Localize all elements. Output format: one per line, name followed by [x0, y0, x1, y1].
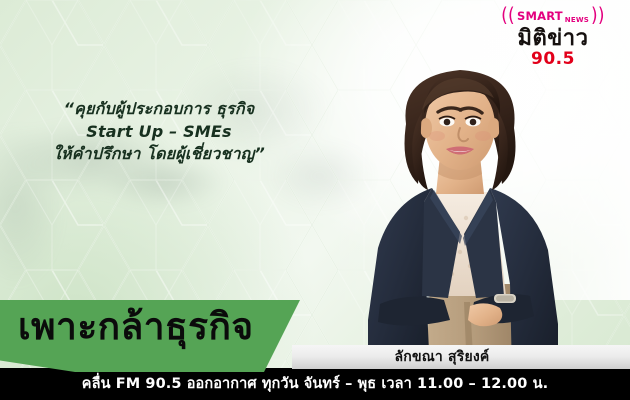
- broadcast-schedule-text: คลื่น FM 90.5 ออกอากาศ ทุกวัน จันทร์ – พ…: [0, 368, 630, 400]
- tagline-line-2: Start Up – SMEs: [14, 121, 304, 144]
- logo-right-paren-icon: )): [591, 7, 605, 27]
- station-logo: (( SMART NEWS )) มิติข่าว 90.5: [494, 8, 612, 68]
- tagline-line-3: ให้คำปรึกษา โดยผู้เชี่ยวชาญ”: [14, 143, 304, 166]
- smart-news-wordmark: (( SMART NEWS )): [494, 8, 612, 25]
- host-name-text: ลักขณา สุริยงค์: [292, 346, 592, 368]
- program-tagline-quote: “คุยกับผู้ประกอบการ ธุรกิจ Start Up – SM…: [14, 98, 304, 166]
- station-name-thai: มิติข่าว: [494, 28, 612, 50]
- tagline-line-1: “คุยกับผู้ประกอบการ ธุรกิจ: [14, 98, 304, 121]
- host-portrait: [334, 52, 584, 374]
- radio-program-poster: (( SMART NEWS )) มิติข่าว 90.5 “คุยกับผู…: [0, 0, 630, 400]
- program-title-text: เพาะกล้าธุรกิจ: [18, 308, 288, 345]
- logo-smart-text: SMART: [517, 11, 563, 23]
- logo-left-paren-icon: ((: [501, 7, 515, 27]
- logo-news-text: NEWS: [565, 17, 589, 26]
- station-frequency: 90.5: [494, 51, 612, 68]
